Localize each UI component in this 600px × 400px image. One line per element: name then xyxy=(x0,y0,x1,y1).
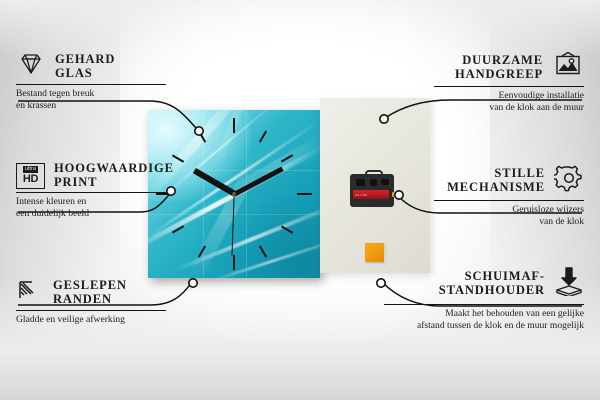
feature-desc: Bestand tegen breuk en krassen xyxy=(16,88,166,111)
feature-hoogwaardige-print: ultraHD HOOGWAARDIGE PRINT Intense kleur… xyxy=(16,162,166,219)
feature-title: SCHUIMAF- STANDHOUDER xyxy=(439,270,545,297)
feature-title: STILLE MECHANISME xyxy=(447,167,545,194)
feature-stille-mechanisme: STILLE MECHANISME Geruisloze wijzers van… xyxy=(434,164,584,227)
feature-rule xyxy=(16,310,166,311)
ultra-hd-icon: ultraHD xyxy=(16,163,45,189)
beveled-edges-icon xyxy=(16,278,44,307)
feature-desc: Gladde en veilige afwerking xyxy=(16,314,166,326)
feature-rule xyxy=(434,200,584,201)
feature-title: GESLEPEN RANDEN xyxy=(53,279,127,306)
infographic-canvas: AA 1.5V xyxy=(0,0,600,400)
feature-rule xyxy=(384,304,584,305)
feature-duurzame-handgreep: DUURZAME HANDGREEP Eenvoudige installati… xyxy=(434,52,584,113)
feature-desc: Eenvoudige installatie van de klok aan d… xyxy=(434,90,584,113)
feature-desc: Maakt het behouden van een gelijke afsta… xyxy=(384,308,584,331)
feature-rule xyxy=(16,84,166,85)
feature-geslepen-randen: GESLEPEN RANDEN Gladde en veilige afwerk… xyxy=(16,278,166,326)
spacer-pad-icon xyxy=(554,266,584,301)
feature-rule xyxy=(434,86,584,87)
feature-rule xyxy=(16,192,166,193)
feature-title: DUURZAME HANDGREEP xyxy=(455,54,543,81)
feature-desc: Intense kleuren en een duidelijk beeld xyxy=(16,196,166,219)
diamond-icon xyxy=(16,52,46,81)
feature-desc: Geruisloze wijzers van de klok xyxy=(434,204,584,227)
picture-frame-hanger-icon xyxy=(552,52,584,83)
feature-gehard-glas: GEHARD GLAS Bestand tegen breuk en krass… xyxy=(16,52,166,111)
gear-icon xyxy=(554,164,584,197)
connector-dot-mechanisme xyxy=(395,191,403,199)
feature-title: GEHARD GLAS xyxy=(55,53,115,80)
feature-schuimafstandhouder: SCHUIMAF- STANDHOUDER Maakt het behouden… xyxy=(384,266,584,331)
feature-title: HOOGWAARDIGE PRINT xyxy=(54,162,174,189)
connector-dot-randen xyxy=(189,279,197,287)
connector-dot-glas xyxy=(195,127,203,135)
connector-dot-handgreep xyxy=(380,115,388,123)
